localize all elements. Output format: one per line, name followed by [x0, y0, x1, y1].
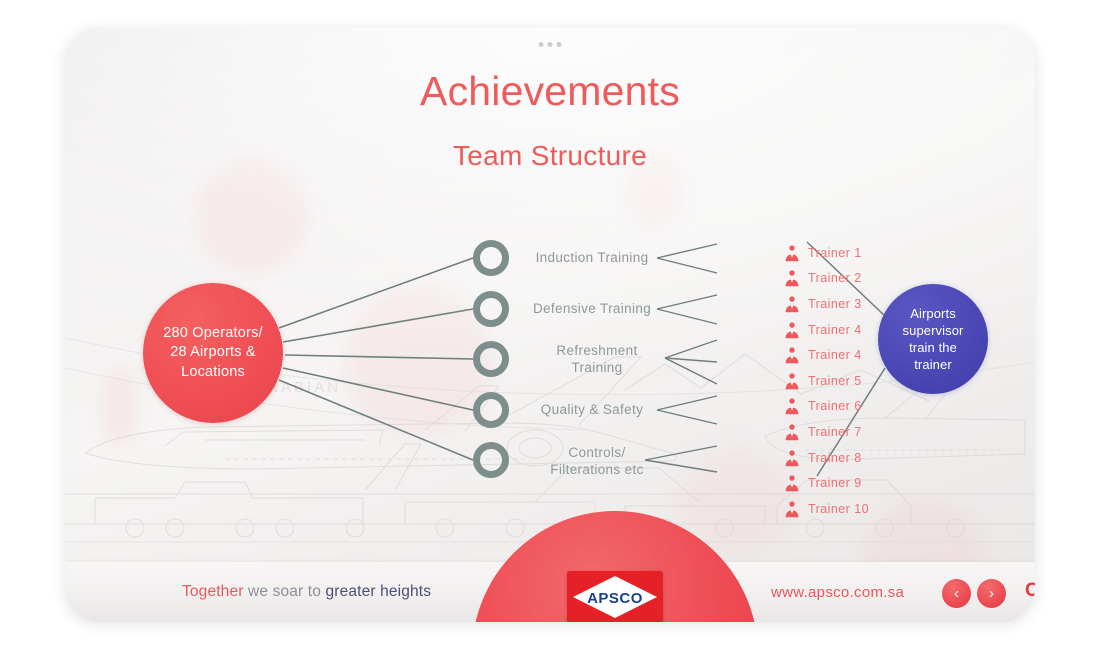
reload-c-icon: C	[1025, 581, 1035, 600]
person-icon	[783, 423, 801, 441]
supervisor-line-1: Airports	[903, 305, 964, 322]
person-icon	[783, 346, 801, 364]
list-item[interactable]: Trainer 7	[783, 419, 869, 445]
trainer-name: Trainer 10	[808, 502, 869, 516]
trainer-name: Trainer 9	[808, 476, 862, 490]
trainer-name: Trainer 6	[808, 399, 862, 413]
prev-slide-button[interactable]: ‹	[942, 579, 971, 608]
tagline-part-3: greater heights	[325, 583, 431, 600]
person-icon	[783, 244, 801, 262]
person-icon	[783, 321, 801, 339]
training-label-controls-line2: Filterations etc	[517, 462, 677, 479]
apsco-logo-mark: APSCO	[567, 571, 663, 622]
supervisor-line-2: supervisor	[903, 322, 964, 339]
supervisor-line-3: train the	[903, 339, 964, 356]
training-label-refreshment-line1: Refreshment	[527, 343, 667, 360]
training-label-controls: Controls/ Filterations etc	[517, 445, 677, 479]
training-label-refreshment-line2: Training	[527, 360, 667, 377]
training-node-defensive[interactable]	[473, 291, 509, 327]
trainer-name: Trainer 7	[808, 425, 862, 439]
training-node-quality[interactable]	[473, 392, 509, 428]
list-item[interactable]: Trainer 3	[783, 291, 869, 317]
chevron-right-icon: ›	[989, 586, 994, 601]
person-icon	[783, 397, 801, 415]
trainer-name: Trainer 4	[808, 323, 862, 337]
training-label-induction: Induction Training	[517, 250, 667, 267]
trainer-name: Trainer 5	[808, 374, 862, 388]
list-item[interactable]: Trainer 1	[783, 240, 869, 266]
trainer-name: Trainer 2	[808, 271, 862, 285]
list-item[interactable]: Trainer 5	[783, 368, 869, 394]
tagline-part-1: Together	[182, 583, 244, 600]
training-node-induction[interactable]	[473, 240, 509, 276]
operators-line-3: Locations	[157, 363, 269, 383]
operators-summary-circle[interactable]: 280 Operators/ 28 Airports & Locations	[143, 283, 283, 423]
list-item[interactable]: Trainer 4	[783, 317, 869, 343]
supervisor-line-4: trainer	[903, 356, 964, 373]
training-label-defensive: Defensive Training	[517, 301, 667, 318]
list-item[interactable]: Trainer 9	[783, 470, 869, 496]
person-icon	[783, 295, 801, 313]
svg-text:APSCO: APSCO	[587, 590, 643, 607]
person-icon	[783, 269, 801, 287]
list-item[interactable]: Trainer 6	[783, 394, 869, 420]
apsco-logo[interactable]: APSCO	[567, 571, 663, 622]
training-label-refreshment: Refreshment Training	[527, 343, 667, 377]
person-icon	[783, 372, 801, 390]
operators-line-1: 280 Operators/	[157, 324, 269, 344]
chevron-left-icon: ‹	[954, 586, 959, 601]
exit-button[interactable]: C exit	[1025, 581, 1035, 600]
training-label-quality: Quality & Safety	[517, 402, 667, 419]
supervisor-circle[interactable]: Airports supervisor train the trainer	[878, 284, 988, 394]
trainer-name: Trainer 1	[808, 246, 862, 260]
list-item[interactable]: Trainer 10	[783, 496, 869, 522]
team-structure-diagram: 280 Operators/ 28 Airports & Locations I…	[65, 28, 1035, 548]
training-node-controls[interactable]	[473, 442, 509, 478]
slide-card: SAUDI ARABIAN Achievements Team Structur…	[65, 28, 1035, 622]
website-url[interactable]: www.apsco.com.sa	[771, 584, 904, 601]
list-item[interactable]: Trainer 2	[783, 266, 869, 292]
trainer-name: Trainer 8	[808, 451, 862, 465]
footer-tagline: Together we soar to greater heights	[182, 583, 431, 601]
training-node-refreshment[interactable]	[473, 341, 509, 377]
trainer-name: Trainer 3	[808, 297, 862, 311]
trainer-list: Trainer 1 Trainer 2 Trainer 3	[783, 240, 869, 522]
tagline-part-2: we soar to	[248, 583, 321, 600]
list-item[interactable]: Trainer 8	[783, 445, 869, 471]
person-icon	[783, 474, 801, 492]
trainer-name: Trainer 4	[808, 348, 862, 362]
slide-viewer: SAUDI ARABIAN Achievements Team Structur…	[0, 0, 1100, 650]
list-item[interactable]: Trainer 4	[783, 342, 869, 368]
next-slide-button[interactable]: ›	[977, 579, 1006, 608]
training-label-controls-line1: Controls/	[517, 445, 677, 462]
person-icon	[783, 500, 801, 518]
person-icon	[783, 449, 801, 467]
operators-line-2: 28 Airports &	[157, 343, 269, 363]
